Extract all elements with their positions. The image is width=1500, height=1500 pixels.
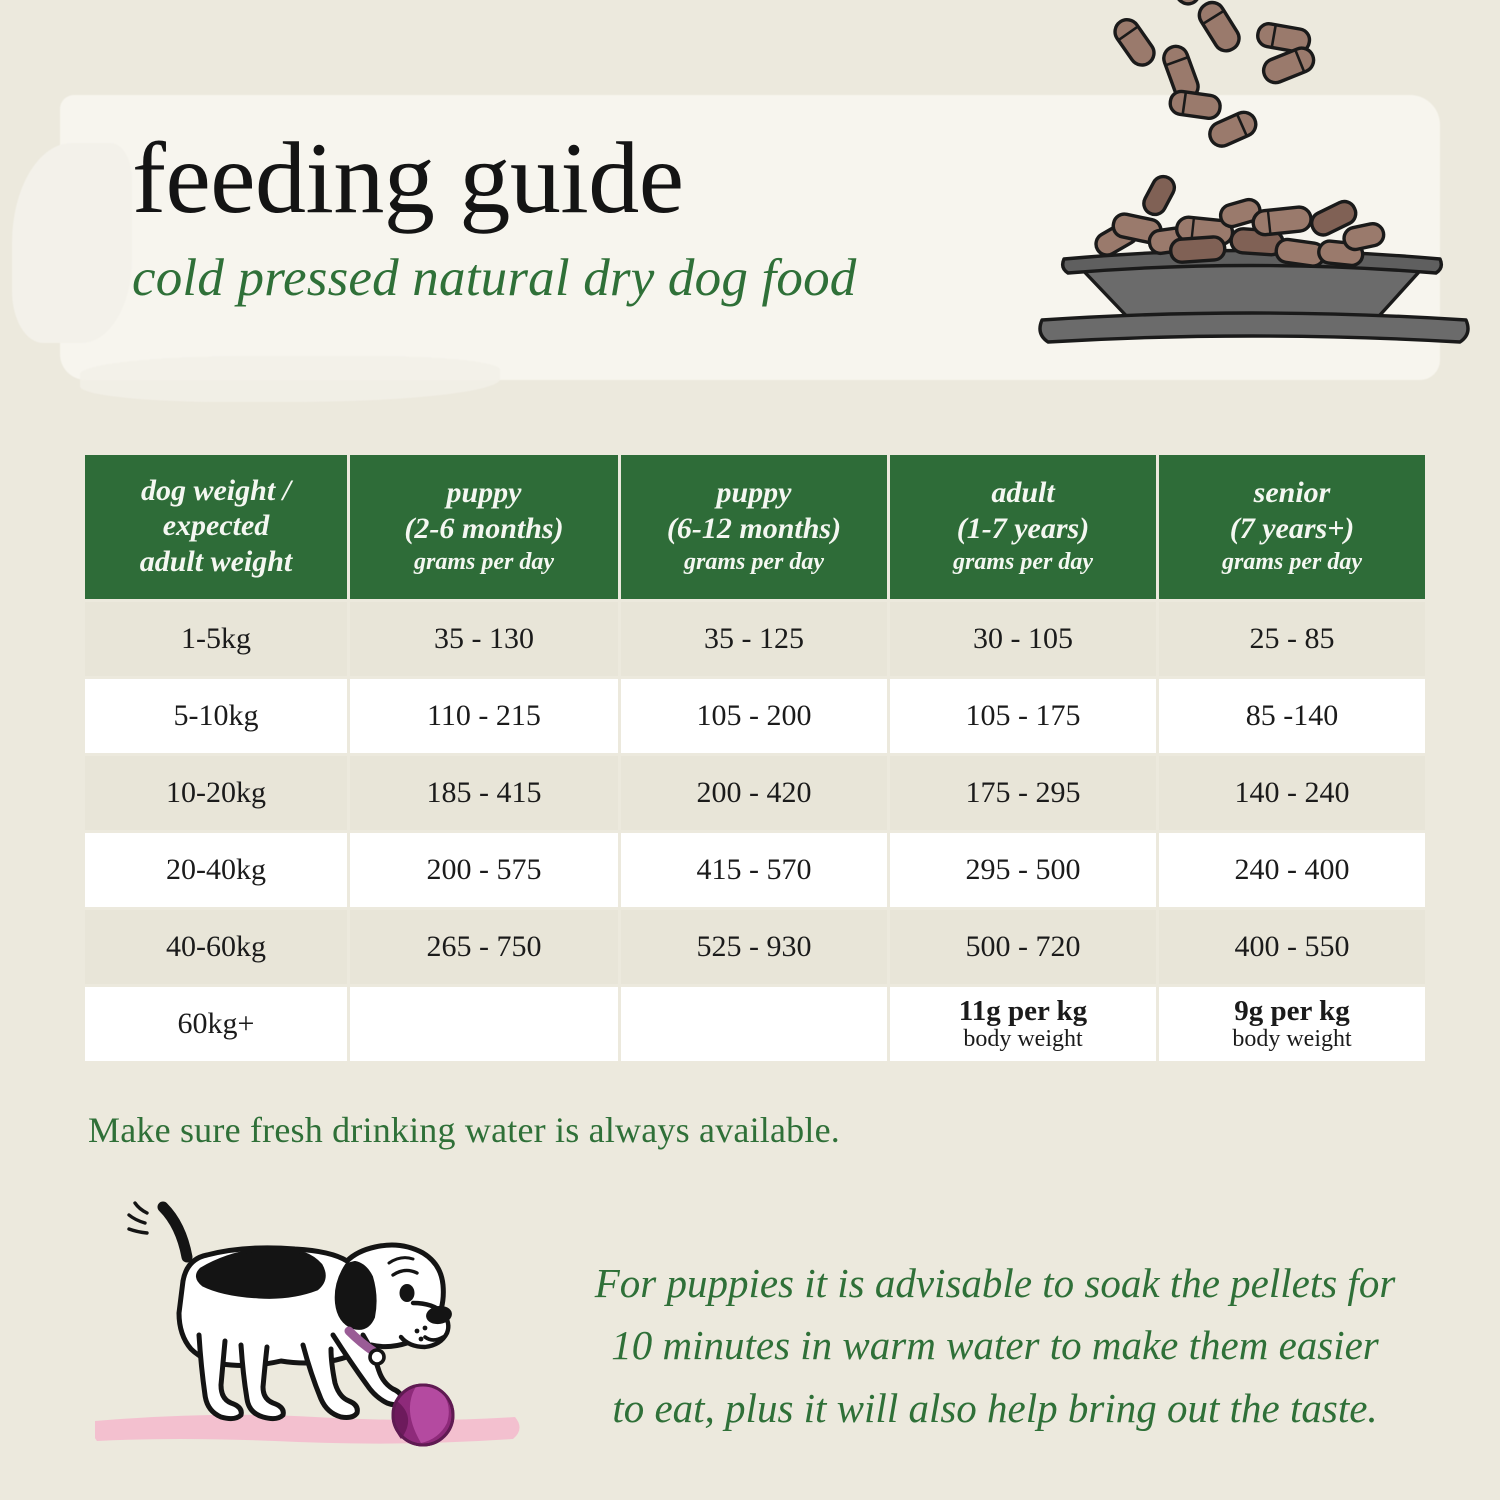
column-header-line1: senior — [1165, 475, 1419, 510]
cell-dog-weight: 10-20kg — [85, 756, 347, 830]
column-header-line2: (2-6 months) — [356, 511, 612, 546]
cell-adult: 30 - 105 — [890, 602, 1156, 676]
table-header-row: dog weight / expected adult weight puppy… — [85, 455, 1425, 599]
column-header-line2: expected — [91, 508, 341, 543]
title-block: feeding guide cold pressed natural dry d… — [132, 128, 1052, 305]
column-header-puppy-6-12: puppy (6-12 months) grams per day — [621, 455, 887, 599]
soak-note-line3: to eat, plus it will also help bring out… — [530, 1377, 1460, 1439]
table-row: 20-40kg 200 - 575 415 - 570 295 - 500 24… — [85, 833, 1425, 907]
cell-dog-weight: 5-10kg — [85, 679, 347, 753]
table-row: 5-10kg 110 - 215 105 - 200 105 - 175 85 … — [85, 679, 1425, 753]
cell-puppy-2-6 — [350, 987, 618, 1061]
cell-senior: 85 -140 — [1159, 679, 1425, 753]
cell-puppy-2-6: 200 - 575 — [350, 833, 618, 907]
cell-adult: 105 - 175 — [890, 679, 1156, 753]
column-header-line1: dog weight / — [91, 473, 341, 508]
column-header-units: grams per day — [627, 548, 881, 577]
page-title: feeding guide — [132, 128, 1052, 230]
cell-dog-weight: 40-60kg — [85, 910, 347, 984]
column-header-units: grams per day — [896, 548, 1150, 577]
dog-bowl-illustration — [1020, 0, 1490, 350]
soak-note-line2: 10 minutes in warm water to make them ea… — [530, 1314, 1460, 1376]
header-banner: feeding guide cold pressed natural dry d… — [0, 0, 1500, 400]
ball — [393, 1385, 453, 1446]
column-header-puppy-2-6: puppy (2-6 months) grams per day — [350, 455, 618, 599]
column-header-adult: adult (1-7 years) grams per day — [890, 455, 1156, 599]
cell-puppy-6-12: 415 - 570 — [621, 833, 887, 907]
column-header-line2: (1-7 years) — [896, 511, 1150, 546]
cell-puppy-6-12 — [621, 987, 887, 1061]
cell-puppy-6-12: 200 - 420 — [621, 756, 887, 830]
cell-puppy-2-6: 265 - 750 — [350, 910, 618, 984]
column-header-units: grams per day — [1165, 548, 1419, 577]
cell-senior-basis: body weight — [1165, 1026, 1419, 1053]
column-header-units: grams per day — [356, 548, 612, 577]
column-header-line2: (7 years+) — [1165, 511, 1419, 546]
cell-puppy-2-6: 185 - 415 — [350, 756, 618, 830]
table-row: 40-60kg 265 - 750 525 - 930 500 - 720 40… — [85, 910, 1425, 984]
puppy-illustration — [95, 1185, 535, 1495]
cell-dog-weight: 1-5kg — [85, 602, 347, 676]
table-row: 1-5kg 35 - 130 35 - 125 30 - 105 25 - 85 — [85, 602, 1425, 676]
cell-senior: 9g per kg body weight — [1159, 987, 1425, 1061]
water-note: Make sure fresh drinking water is always… — [88, 1109, 840, 1151]
cell-puppy-6-12: 105 - 200 — [621, 679, 887, 753]
cell-adult-rate: 11g per kg — [896, 996, 1150, 1026]
soak-note-line1: For puppies it is advisable to soak the … — [530, 1252, 1460, 1314]
table-row: 60kg+ 11g per kg body weight 9g per kg b… — [85, 987, 1425, 1061]
cell-senior-rate: 9g per kg — [1165, 996, 1419, 1026]
column-header-line1: puppy — [356, 475, 612, 510]
cell-adult-basis: body weight — [896, 1026, 1150, 1053]
cell-adult: 295 - 500 — [890, 833, 1156, 907]
ground-strip — [95, 1415, 520, 1444]
cell-adult: 11g per kg body weight — [890, 987, 1156, 1061]
column-header-senior: senior (7 years+) grams per day — [1159, 455, 1425, 599]
soak-note: For puppies it is advisable to soak the … — [530, 1252, 1460, 1439]
cell-puppy-6-12: 35 - 125 — [621, 602, 887, 676]
cell-senior: 25 - 85 — [1159, 602, 1425, 676]
cell-adult: 175 - 295 — [890, 756, 1156, 830]
cell-dog-weight: 60kg+ — [85, 987, 347, 1061]
column-header-line2: (6-12 months) — [627, 511, 881, 546]
cell-puppy-6-12: 525 - 930 — [621, 910, 887, 984]
feeding-guide-table: dog weight / expected adult weight puppy… — [82, 452, 1428, 1064]
cell-senior: 140 - 240 — [1159, 756, 1425, 830]
cell-adult: 500 - 720 — [890, 910, 1156, 984]
column-header-line1: puppy — [627, 475, 881, 510]
page-subtitle: cold pressed natural dry dog food — [132, 252, 1052, 305]
column-header-line3: adult weight — [91, 544, 341, 579]
cell-puppy-2-6: 35 - 130 — [350, 602, 618, 676]
column-header-line1: adult — [896, 475, 1150, 510]
cell-puppy-2-6: 110 - 215 — [350, 679, 618, 753]
cell-senior: 400 - 550 — [1159, 910, 1425, 984]
cell-dog-weight: 20-40kg — [85, 833, 347, 907]
cell-senior: 240 - 400 — [1159, 833, 1425, 907]
table-row: 10-20kg 185 - 415 200 - 420 175 - 295 14… — [85, 756, 1425, 830]
column-header-dog-weight: dog weight / expected adult weight — [85, 455, 347, 599]
